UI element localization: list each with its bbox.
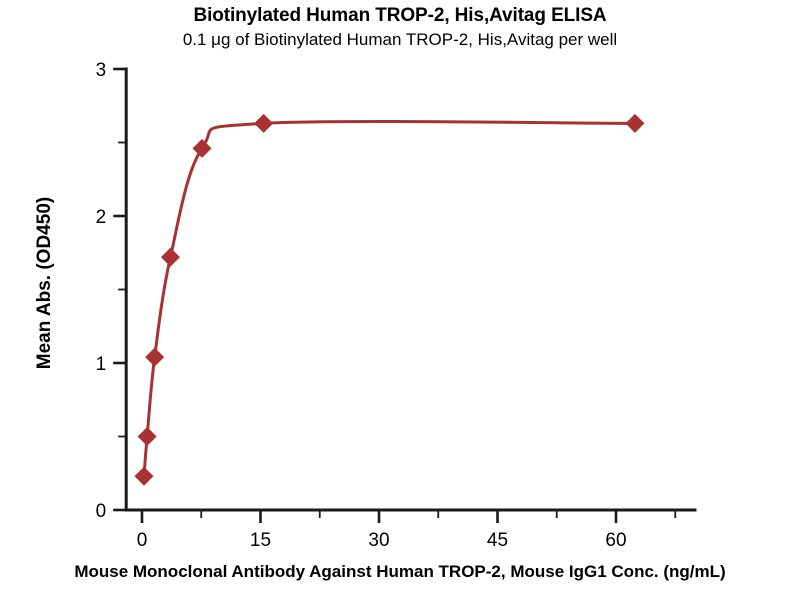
y-tick-label: 1 xyxy=(96,354,107,375)
x-tick-label: 0 xyxy=(137,530,148,551)
chart-figure: Biotinylated Human TROP-2, His,Avitag EL… xyxy=(0,0,800,600)
x-axis-tick-labels: 015304560 xyxy=(137,530,627,551)
y-tick-label: 3 xyxy=(96,60,107,81)
x-tick-label: 30 xyxy=(368,530,389,551)
x-tick-label: 15 xyxy=(250,530,271,551)
data-point-marker xyxy=(193,139,212,158)
plot-area: 015304560 0123 xyxy=(0,0,800,600)
data-point-marker xyxy=(161,248,180,267)
y-tick-label: 2 xyxy=(96,207,107,228)
data-point-marker xyxy=(145,348,164,367)
x-tick-label: 60 xyxy=(605,530,626,551)
x-tick-label: 45 xyxy=(487,530,508,551)
series-curve xyxy=(144,122,635,477)
y-tick-label: 0 xyxy=(96,501,107,522)
data-point-marker xyxy=(138,427,157,446)
data-point-marker xyxy=(254,114,273,133)
data-point-marker xyxy=(134,467,153,486)
x-axis-major-ticks xyxy=(142,510,616,523)
series-curves xyxy=(144,122,635,477)
series-data-points xyxy=(134,114,644,486)
data-point-marker xyxy=(625,114,644,133)
y-axis-tick-labels: 0123 xyxy=(96,60,107,522)
